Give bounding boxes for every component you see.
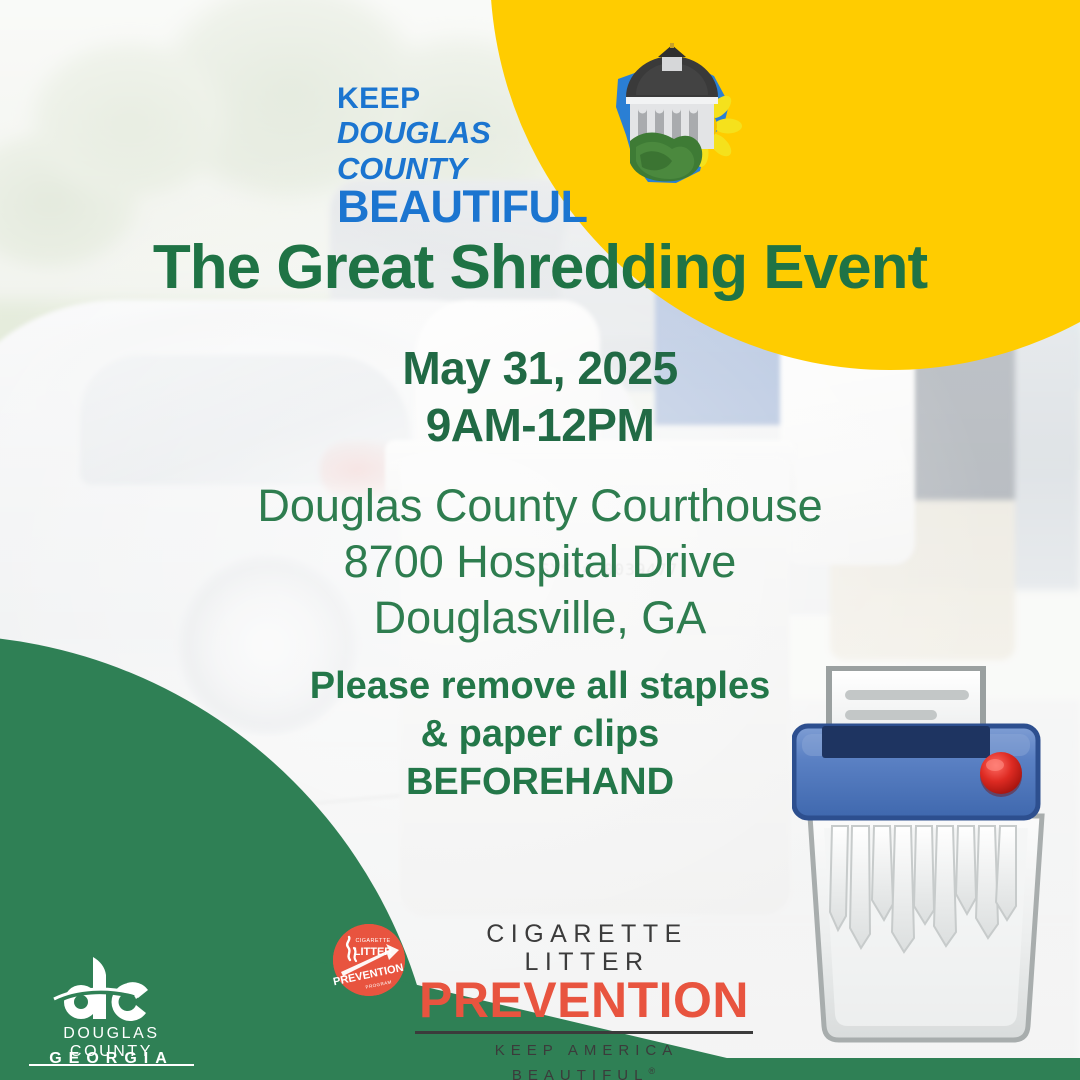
address-city-state: Douglasville, GA: [0, 590, 1080, 646]
clp-registered-mark: ®: [648, 1066, 661, 1076]
address-venue: Douglas County Courthouse: [0, 478, 1080, 534]
kdcb-line-keep: KEEP: [337, 84, 617, 114]
address-street: 8700 Hospital Drive: [0, 534, 1080, 590]
flyer-canvas: Shredding & Recycling 95-9 ATSHREDS.COM …: [0, 0, 1080, 1080]
event-date: May 31, 2025: [0, 341, 1080, 395]
clp-divider: [415, 1031, 753, 1034]
douglas-county-georgia-logo: DOUGLAS COUNTY GEORGIA: [29, 955, 194, 1065]
kdcb-line-beautiful: BEAUTIFUL: [337, 184, 617, 230]
svg-text:LITTER: LITTER: [354, 946, 393, 958]
kdcb-line-douglas-county: DOUGLAS COUNTY: [337, 115, 617, 187]
clp-line-keep-america-beautiful: KEEP AMERICA BEAUTIFUL®: [415, 1041, 753, 1080]
county-map-courthouse-icon: [596, 43, 746, 195]
cigarette-litter-prevention-logo: CIGARETTE LITTER PREVENTION PROGRAM CIGA…: [333, 920, 753, 1028]
clp-badge-artwork: CIGARETTE LITTER PREVENTION PROGRAM: [333, 924, 405, 996]
clp-wordmark: CIGARETTE LITTER PREVENTION KEEP AMERICA…: [415, 920, 753, 1080]
kdcb-wordmark: KEEP DOUGLAS COUNTY BEAUTIFUL: [337, 84, 617, 230]
event-time: 9AM-12PM: [0, 398, 1080, 452]
paper-shredder-icon: [792, 648, 1060, 1060]
clp-line-cigarette-litter: CIGARETTE LITTER: [415, 920, 753, 976]
dc-logo-state: GEORGIA: [29, 1050, 194, 1068]
event-title: The Great Shredding Event: [0, 232, 1080, 303]
svg-text:CIGARETTE: CIGARETTE: [355, 938, 390, 944]
event-address: Douglas County Courthouse 8700 Hospital …: [0, 478, 1080, 646]
clp-line-prevention: PREVENTION: [415, 974, 753, 1026]
clp-badge-icon: CIGARETTE LITTER PREVENTION PROGRAM: [333, 924, 405, 996]
keep-douglas-county-beautiful-logo: KEEP DOUGLAS COUNTY BEAUTIFUL: [337, 84, 737, 199]
dc-monogram-icon: [48, 955, 164, 1023]
